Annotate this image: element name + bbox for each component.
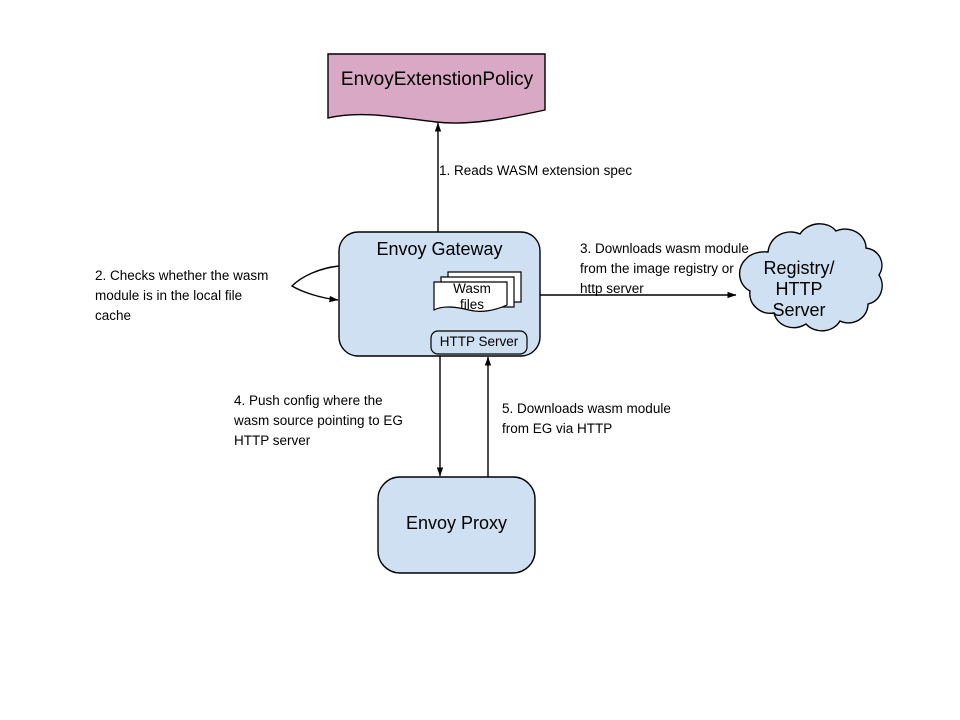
diagram-shapes — [0, 0, 960, 720]
node-registry-http-server[interactable] — [740, 224, 883, 331]
edge-label-step3: 3. Downloads wasm module from the image … — [580, 239, 750, 299]
node-envoy-extension-policy[interactable] — [328, 54, 545, 123]
node-http-server[interactable] — [431, 331, 527, 354]
edge-label-step1: 1. Reads WASM extension spec — [439, 161, 669, 181]
edge-label-step4: 4. Push config where the wasm source poi… — [234, 391, 429, 451]
node-wasm-files[interactable] — [434, 272, 521, 311]
edge-step2-self-loop — [292, 266, 339, 300]
edge-label-step2: 2. Checks whether the wasm module is in … — [95, 266, 295, 326]
node-envoy-proxy[interactable] — [378, 477, 535, 573]
edge-label-step5: 5. Downloads wasm module from EG via HTT… — [502, 399, 697, 439]
diagram-canvas: EnvoyExtenstionPolicy Envoy Gateway Wasm… — [0, 0, 960, 720]
